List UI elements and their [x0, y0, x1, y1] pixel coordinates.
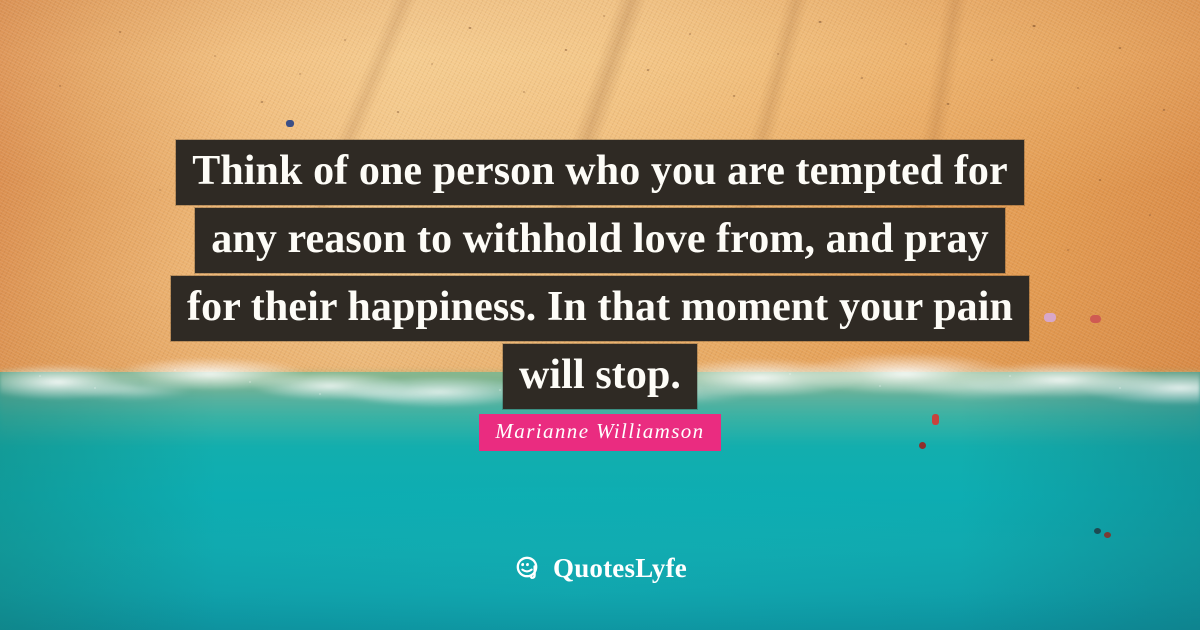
brand-name: QuotesLyfe — [553, 553, 687, 584]
quote-line: will stop. — [503, 344, 697, 409]
quote-smiley-icon — [513, 554, 543, 584]
author-attribution: Marianne Williamson — [0, 414, 1200, 451]
brand-watermark[interactable]: QuotesLyfe — [0, 553, 1200, 584]
quote-line: for their happiness. In that moment your… — [171, 276, 1029, 341]
quote-line: Think of one person who you are tempted … — [176, 140, 1024, 205]
swimmer-figure — [1094, 528, 1101, 534]
quote-line: any reason to withhold love from, and pr… — [195, 208, 1004, 273]
quote-text-block: Think of one person who you are tempted … — [0, 0, 1200, 409]
author-name: Marianne Williamson — [479, 414, 720, 451]
swimmer-figure — [1104, 532, 1111, 538]
